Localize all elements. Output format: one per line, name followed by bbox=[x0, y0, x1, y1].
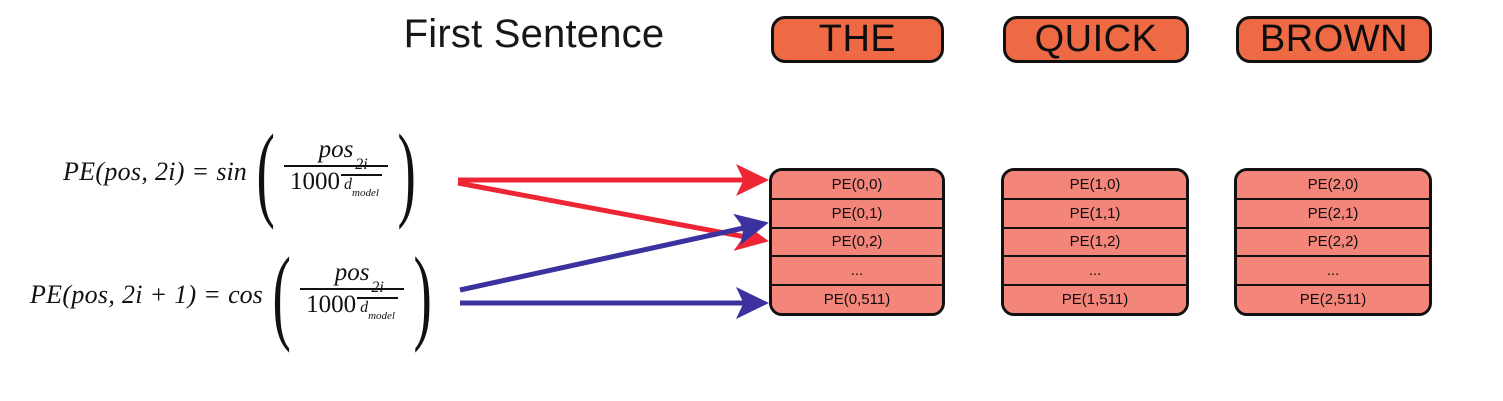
arrow-sin-to-pe-0-2 bbox=[458, 183, 762, 240]
formula-sin-lhs: PE(pos, 2i) = bbox=[63, 157, 209, 187]
formula-sin-function: sin bbox=[216, 157, 246, 187]
exponent-numerator: 2i bbox=[350, 156, 372, 174]
formula-cos-exponent: 2i dmodel bbox=[357, 279, 398, 319]
formula-cos-base: 1000 bbox=[306, 291, 356, 319]
formula-cos-fraction: pos 1000 2i dmodel bbox=[300, 259, 404, 331]
d-subscript: model bbox=[368, 310, 395, 322]
pe-cell: PE(1,0) bbox=[1004, 171, 1186, 200]
formula-cos-denominator: 1000 2i dmodel bbox=[300, 290, 404, 331]
pe-cell: PE(0,511) bbox=[772, 286, 942, 313]
formula-cos-function: cos bbox=[228, 280, 263, 310]
word-box-brown: BROWN bbox=[1236, 16, 1432, 63]
formula-sin-fraction: pos 1000 2i dmodel bbox=[284, 136, 388, 208]
page-title: First Sentence bbox=[344, 12, 724, 57]
exponent-numerator: 2i bbox=[366, 279, 388, 297]
pe-cell: PE(2,1) bbox=[1237, 200, 1429, 229]
pe-cell: PE(0,0) bbox=[772, 171, 942, 200]
formula-sin: PE(pos, 2i) = sin ( pos 1000 2i dmodel ) bbox=[63, 136, 424, 208]
d-symbol: d bbox=[344, 176, 352, 193]
pe-cell: PE(1,1) bbox=[1004, 200, 1186, 229]
d-subscript: model bbox=[352, 187, 379, 199]
pe-stack-quick: PE(1,0) PE(1,1) PE(1,2) ... PE(1,511) bbox=[1001, 168, 1189, 316]
d-symbol: d bbox=[360, 299, 368, 316]
word-box-quick: QUICK bbox=[1003, 16, 1189, 63]
pe-cell: PE(2,2) bbox=[1237, 229, 1429, 258]
pe-stack-the: PE(0,0) PE(0,1) PE(0,2) ... PE(0,511) bbox=[769, 168, 945, 316]
diagram-canvas: First Sentence THE QUICK BROWN PE(0,0) P… bbox=[0, 0, 1503, 401]
formula-cos-lhs: PE(pos, 2i + 1) = bbox=[30, 280, 221, 310]
pe-cell: PE(0,2) bbox=[772, 229, 942, 258]
exponent-denominator: dmodel bbox=[357, 299, 398, 319]
arrow-cos-to-pe-0-1 bbox=[460, 224, 762, 290]
pe-cell: ... bbox=[1004, 257, 1186, 286]
word-box-the: THE bbox=[771, 16, 944, 63]
pe-stack-brown: PE(2,0) PE(2,1) PE(2,2) ... PE(2,511) bbox=[1234, 168, 1432, 316]
pe-cell: PE(2,0) bbox=[1237, 171, 1429, 200]
pe-cell: PE(2,511) bbox=[1237, 286, 1429, 313]
formula-sin-denominator: 1000 2i dmodel bbox=[284, 167, 388, 208]
pe-cell: PE(0,1) bbox=[772, 200, 942, 229]
pe-cell: PE(1,2) bbox=[1004, 229, 1186, 258]
pe-cell: PE(1,511) bbox=[1004, 286, 1186, 313]
formula-sin-exponent: 2i dmodel bbox=[341, 156, 382, 196]
pe-cell: ... bbox=[772, 257, 942, 286]
pe-cell: ... bbox=[1237, 257, 1429, 286]
formula-sin-base: 1000 bbox=[290, 168, 340, 196]
formula-cos: PE(pos, 2i + 1) = cos ( pos 1000 2i dmod… bbox=[30, 259, 440, 331]
exponent-denominator: dmodel bbox=[341, 176, 382, 196]
